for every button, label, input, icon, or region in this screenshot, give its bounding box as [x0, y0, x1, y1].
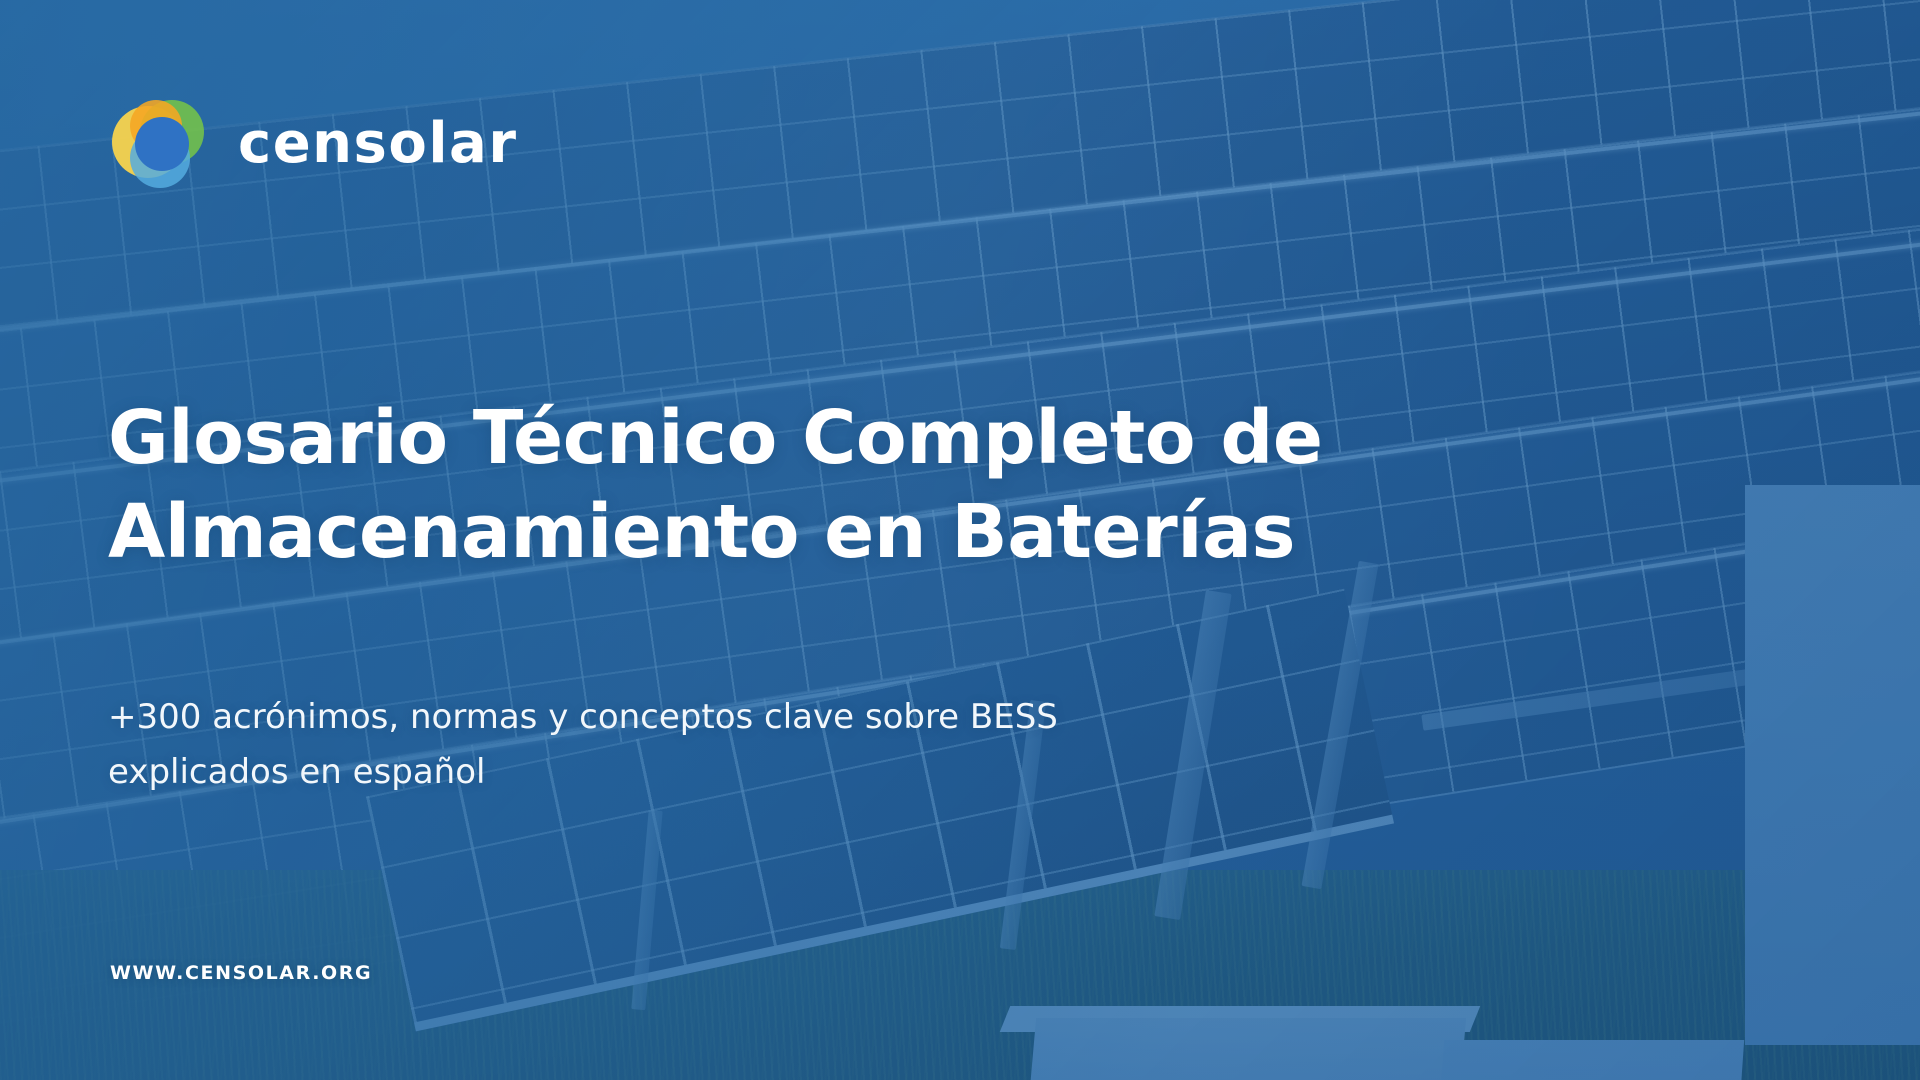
brand-logo-lockup[interactable]: censolar	[108, 92, 517, 196]
page-subtitle: +300 acrónimos, normas y conceptos clave…	[108, 690, 1408, 800]
censolar-overlapping-circles-logo-icon	[108, 92, 212, 196]
page-subtitle-line-2: explicados en español	[108, 745, 1408, 800]
slide-content: censolar Glosario Técnico Completo de Al…	[0, 0, 1920, 1080]
page-title-line-2: Almacenamiento en Baterías	[108, 486, 1438, 580]
page-title-line-1: Glosario Técnico Completo de	[108, 392, 1438, 486]
footer-website-url[interactable]: WWW.CENSOLAR.ORG	[110, 962, 372, 984]
page-subtitle-line-1: +300 acrónimos, normas y conceptos clave…	[108, 690, 1408, 745]
brand-wordmark: censolar	[238, 116, 517, 172]
page-title: Glosario Técnico Completo de Almacenamie…	[108, 392, 1438, 580]
slide-canvas: censolar Glosario Técnico Completo de Al…	[0, 0, 1920, 1080]
